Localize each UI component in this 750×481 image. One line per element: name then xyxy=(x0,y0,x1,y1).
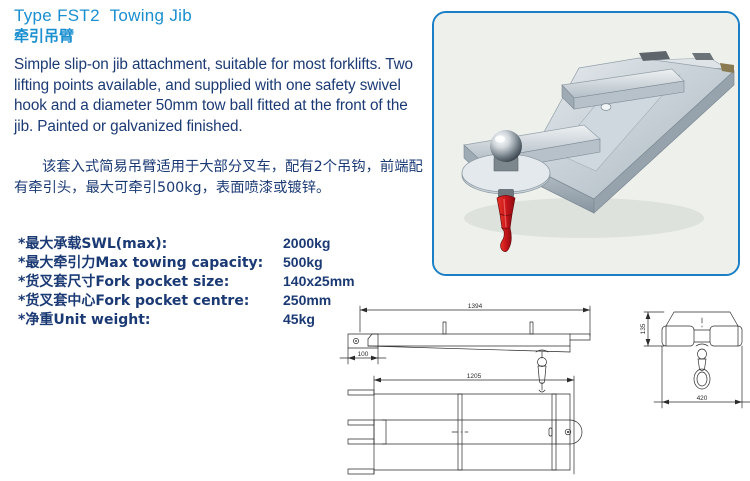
product-title-cn: 牵引吊臂 xyxy=(14,27,434,46)
description-chinese: 该套入式简易吊臂适用于大部分叉车，配有2个吊钩，前端配有牵引头，最大可牵引500… xyxy=(14,157,426,198)
dimension-135: 135 xyxy=(640,323,647,334)
plan-view xyxy=(348,376,582,474)
spec-row: *货叉套中心Fork pocket centre: 250mm xyxy=(18,290,378,309)
spec-label: *最大承载SWL(max): xyxy=(18,233,283,253)
specification-list: *最大承载SWL(max): 2000kg *最大牵引力Max towing c… xyxy=(18,233,378,328)
dimension-100: 100 xyxy=(358,351,369,358)
spec-label: *货叉套中心Fork pocket centre: xyxy=(18,290,283,310)
product-photo xyxy=(434,13,738,274)
product-title-en: Type FST2 Towing Jib xyxy=(14,6,434,26)
title-block: Type FST2 Towing Jib 牵引吊臂 xyxy=(14,6,434,46)
product-photo-panel xyxy=(432,11,740,276)
spec-value: 250mm xyxy=(283,292,331,308)
end-elevation-view xyxy=(644,312,750,408)
dimension-420: 420 xyxy=(697,395,708,402)
spec-label: *净重Unit weight: xyxy=(18,309,283,329)
spec-row: *货叉套尺寸Fork pocket size: 140x25mm xyxy=(18,271,378,290)
spec-value: 45kg xyxy=(283,311,315,327)
spec-value: 2000kg xyxy=(283,235,330,251)
spec-value: 500kg xyxy=(283,254,323,270)
drawing-canvas: 1394 100 1205 420 135 xyxy=(334,284,750,480)
spec-row: *最大承载SWL(max): 2000kg xyxy=(18,233,378,252)
spec-label: *最大牵引力Max towing capacity: xyxy=(18,252,283,272)
technical-drawings: 1394 100 1205 420 135 xyxy=(334,284,750,480)
description-english: Simple slip-on jib attachment, suitable … xyxy=(14,55,426,137)
spec-row: *最大牵引力Max towing capacity: 500kg xyxy=(18,252,378,271)
spec-row: *净重Unit weight: 45kg xyxy=(18,309,378,328)
dimension-1394: 1394 xyxy=(468,303,483,310)
dimension-1205: 1205 xyxy=(467,373,482,380)
spec-label: *货叉套尺寸Fork pocket size: xyxy=(18,271,283,291)
